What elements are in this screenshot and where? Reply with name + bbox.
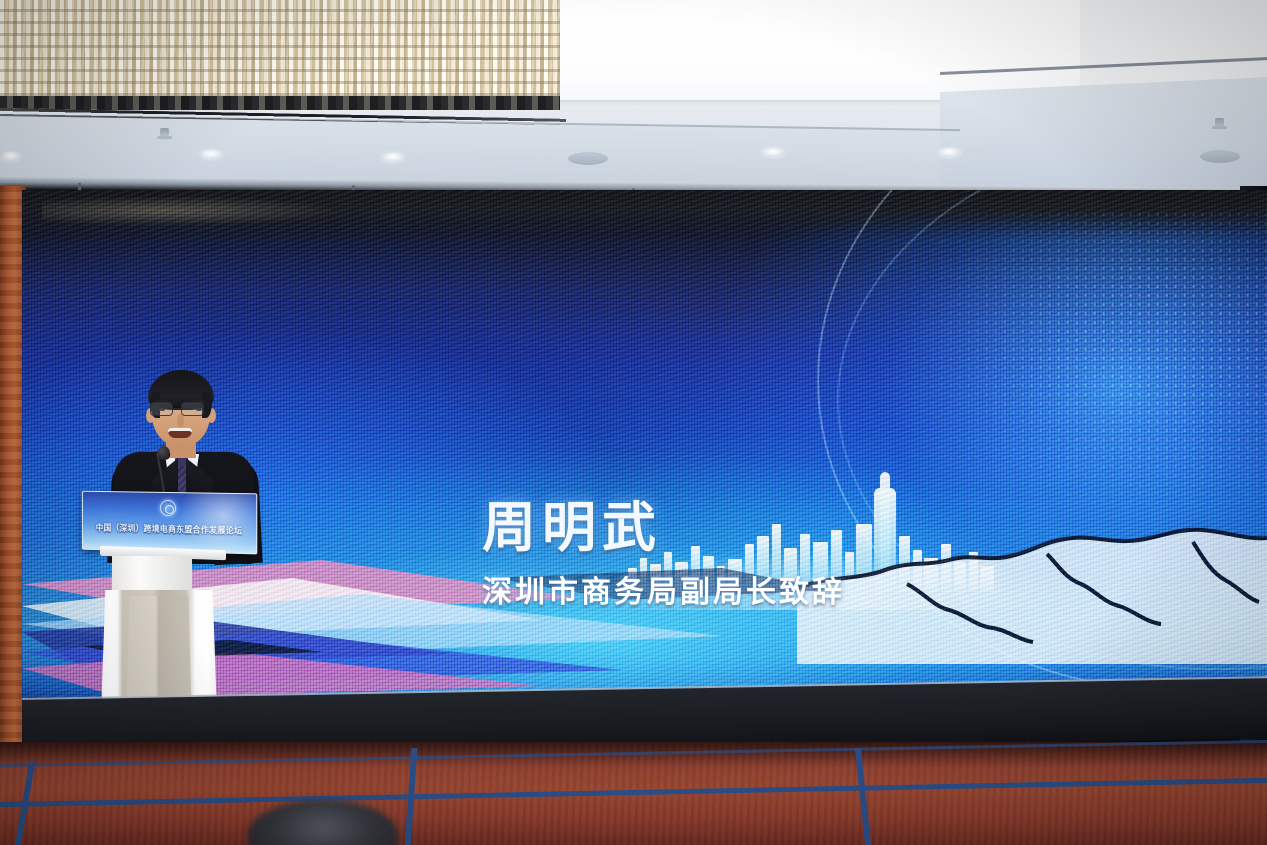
podium-forum-sign: 中国（深圳）跨境电商东盟合作发展论坛 — [82, 491, 257, 555]
forum-emblem-icon — [160, 500, 176, 516]
recessed-downlight — [200, 150, 222, 159]
mouth — [168, 428, 192, 438]
recessed-downlight — [2, 152, 20, 161]
ceiling-vent-oval — [1200, 150, 1240, 163]
conference-stage-photo: 周明武 深圳市商务局副局长致辞 — [0, 0, 1267, 845]
podium-sign-text: 中国（深圳）跨境电商东盟合作发展论坛 — [90, 521, 250, 537]
ceiling-vent-oval — [568, 152, 608, 165]
eyeglass-lens-left — [150, 402, 173, 416]
crystal-chandelier — [0, 0, 560, 110]
recessed-downlight — [938, 148, 960, 157]
screen-light-reflection — [42, 196, 342, 226]
nose — [177, 414, 184, 427]
ceiling-panel-right — [940, 77, 1267, 202]
recessed-downlight — [762, 148, 784, 157]
recessed-downlight — [382, 153, 404, 162]
sprinkler-head — [1215, 118, 1224, 130]
chandelier-crystal-texture — [0, 0, 560, 110]
world-map-continent-graphic — [797, 514, 1267, 664]
sprinkler-head — [160, 128, 169, 140]
chandelier-base-bar — [0, 96, 560, 110]
eyeglass-bridge — [173, 408, 181, 410]
eyeglass-lens-right — [181, 402, 204, 416]
ceiling — [0, 0, 1267, 200]
